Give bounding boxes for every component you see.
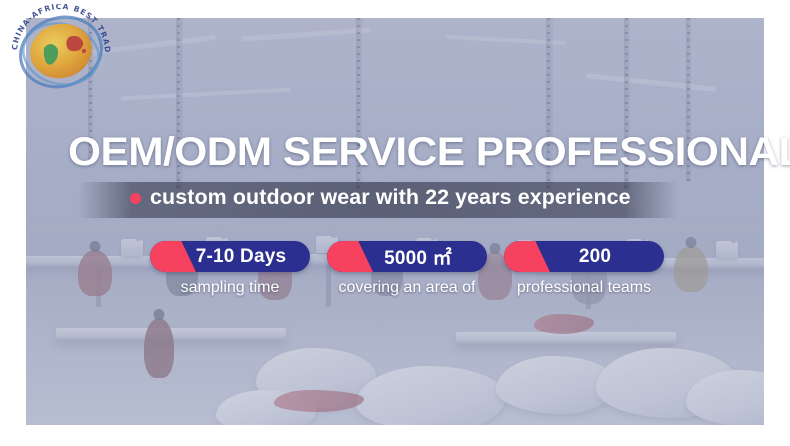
page-title: OEM/ODM SERVICE PROFESSIONAL xyxy=(68,130,790,174)
feature-pill: 200 xyxy=(504,241,664,272)
promo-banner: CHINA-AFRICA BEST TRADING PLATFORM OEM/O… xyxy=(0,0,790,446)
bullet-dot-icon xyxy=(130,193,141,204)
feature-item-sampling-time: 7-10 Days sampling time xyxy=(150,241,310,297)
china-africa-logo: CHINA-AFRICA BEST TRADING PLATFORM xyxy=(6,4,116,96)
subtitle-text: custom outdoor wear with 22 years experi… xyxy=(150,186,631,210)
subtitle-row: custom outdoor wear with 22 years experi… xyxy=(130,186,621,210)
feature-caption: professional teams xyxy=(517,279,651,297)
feature-value: 200 xyxy=(557,246,611,268)
feature-pill: 5000 ㎡ xyxy=(327,241,487,272)
feature-item-area: 5000 ㎡ covering an area of xyxy=(327,241,487,297)
photo-color-overlay xyxy=(26,18,764,425)
feature-caption: covering an area of xyxy=(339,279,476,297)
feature-caption: sampling time xyxy=(181,279,280,297)
feature-item-teams: 200 professional teams xyxy=(504,241,664,297)
factory-background-photo xyxy=(26,18,764,425)
feature-value: 5000 ㎡ xyxy=(362,243,452,270)
pill-cap-shape xyxy=(504,241,550,272)
feature-value: 7-10 Days xyxy=(174,246,287,268)
feature-list: 7-10 Days sampling time 5000 ㎡ covering … xyxy=(150,241,664,297)
feature-pill: 7-10 Days xyxy=(150,241,310,272)
